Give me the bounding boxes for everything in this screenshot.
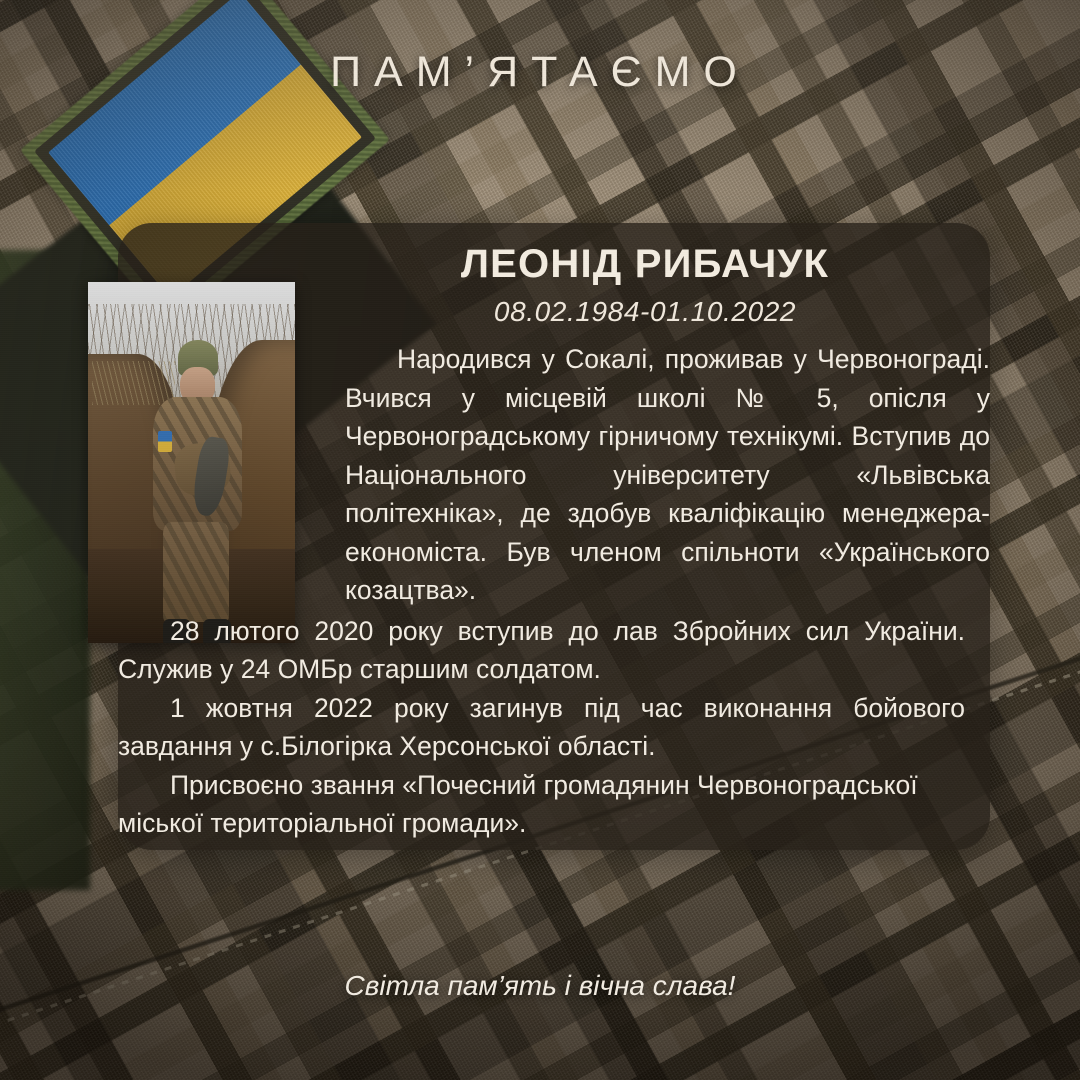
page-title: ПАМ’ЯТАЄМО xyxy=(0,48,1080,97)
memorial-name: ЛЕОНІД РИБАЧУК xyxy=(300,242,990,287)
memorial-dates: 08.02.1984-01.10.2022 xyxy=(300,296,990,328)
biography-paragraph: Народився у Сокалі, проживав у Червоногр… xyxy=(345,340,990,610)
biography-paragraph: Присвоєно звання «Почесний громадянин Че… xyxy=(118,766,965,843)
memorial-footer: Світла пам’ять і вічна слава! xyxy=(0,970,1080,1002)
biography-paragraph: 28 лютого 2020 року вступив до лав Зброй… xyxy=(118,612,965,689)
memorial-poster: ПАМ’ЯТАЄМО ЛЕОНІД РИБАЧУК 08.02.1984-01.… xyxy=(0,0,1080,1080)
biography-paragraph: 1 жовтня 2022 року загинув під час викон… xyxy=(118,689,965,766)
biography-text: Народився у Сокалі, проживав у Червоногр… xyxy=(118,340,990,843)
